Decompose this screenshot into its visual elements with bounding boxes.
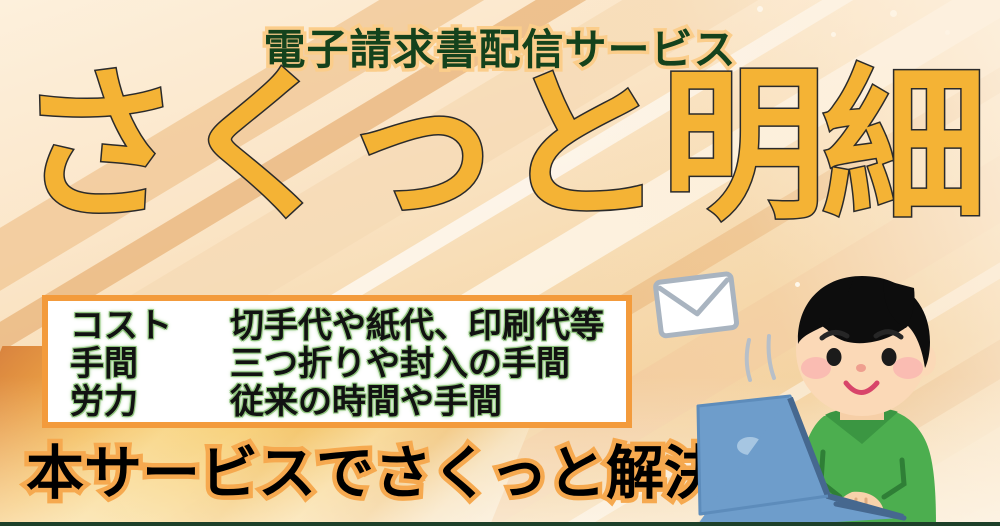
info-row-value: 三つ折りや封入の手間 bbox=[230, 345, 626, 383]
info-row-value: 切手代や紙代、印刷代等 bbox=[230, 307, 626, 345]
illustration-person-laptop bbox=[640, 256, 1000, 526]
motion-lines-icon bbox=[747, 336, 774, 380]
info-row: コスト 切手代や紙代、印刷代等 bbox=[70, 307, 626, 345]
info-row-label: 労力 bbox=[70, 383, 230, 421]
page-title: さくっと明細 bbox=[0, 64, 1000, 229]
info-row: 手間 三つ折りや封入の手間 bbox=[70, 345, 626, 383]
info-row-label: コスト bbox=[70, 307, 230, 345]
bottom-rule bbox=[0, 522, 1000, 526]
info-row-label: 手間 bbox=[70, 345, 230, 383]
info-box: コスト 切手代や紙代、印刷代等 手間 三つ折りや封入の手間 労力 従来の時間や手… bbox=[42, 295, 632, 428]
info-row-value: 従来の時間や手間 bbox=[230, 383, 626, 421]
info-row: 労力 従来の時間や手間 bbox=[70, 383, 626, 421]
envelope-icon bbox=[655, 273, 737, 336]
banner-canvas: 電子請求書配信サービス さくっと明細 コスト 切手代や紙代、印刷代等 手間 三つ… bbox=[0, 0, 1000, 526]
